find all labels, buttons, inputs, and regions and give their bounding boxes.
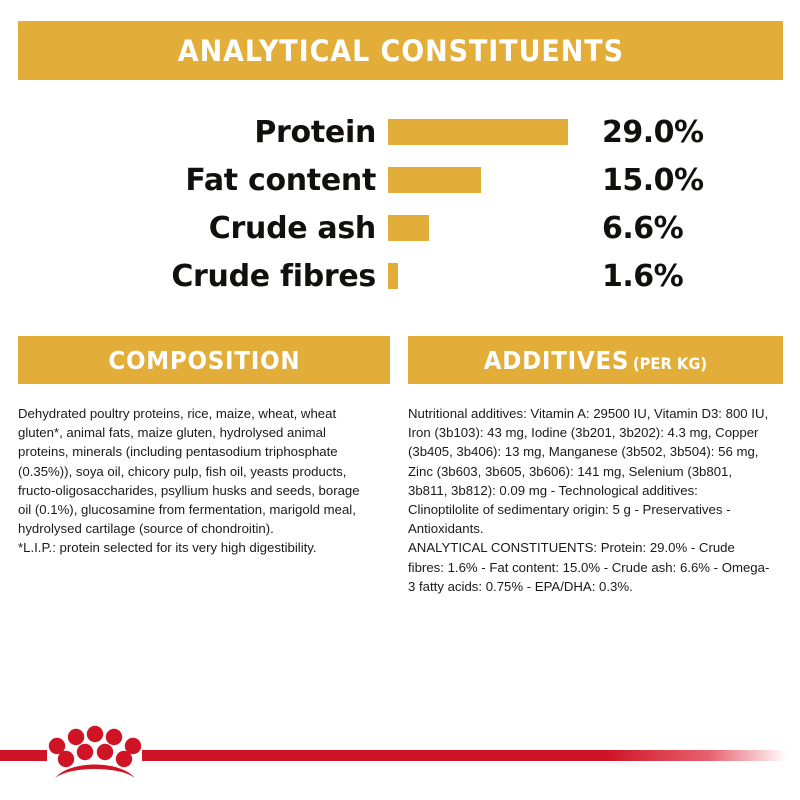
bar-value-protein: 29.0% — [588, 115, 704, 150]
chart-row: Crude fibres 1.6% — [18, 252, 783, 300]
bar-label-protein: Protein — [18, 115, 388, 150]
bar-track-crude-ash — [388, 215, 588, 241]
footer-rule-right — [142, 750, 787, 761]
analytical-constituents-banner: ANALYTICAL CONSTITUENTS — [18, 21, 783, 80]
chart-row: Fat content 15.0% — [18, 156, 783, 204]
bar-fat-content — [388, 167, 481, 193]
bar-label-crude-ash: Crude ash — [18, 211, 388, 246]
product-info-panel: ANALYTICAL CONSTITUENTS Protein 29.0% Fa… — [0, 0, 800, 800]
additives-heading: ADDITIVES(per kg) — [484, 346, 707, 375]
page-title: ANALYTICAL CONSTITUENTS — [177, 34, 623, 68]
analytical-constituents-chart: Protein 29.0% Fat content 15.0% Crude as… — [18, 108, 783, 308]
bar-track-crude-fibres — [388, 263, 588, 289]
bar-track-protein — [388, 119, 588, 145]
chart-row: Crude ash 6.6% — [18, 204, 783, 252]
bar-value-crude-fibres: 1.6% — [588, 259, 683, 294]
composition-text-column: Dehydrated poultry proteins, rice, maize… — [18, 404, 370, 558]
bar-track-fat-content — [388, 167, 588, 193]
composition-heading: COMPOSITION — [108, 346, 300, 375]
bar-crude-fibres — [388, 263, 398, 289]
additives-analytical-constituents: ANALYTICAL CONSTITUENTS: Protein: 29.0% … — [408, 538, 770, 596]
chart-row: Protein 29.0% — [18, 108, 783, 156]
composition-footnote: *L.I.P.: protein selected for its very h… — [18, 538, 370, 557]
bar-value-crude-ash: 6.6% — [588, 211, 683, 246]
additives-heading-main: ADDITIVES — [484, 346, 629, 375]
royal-canin-crown-icon — [48, 715, 142, 780]
bar-crude-ash — [388, 215, 429, 241]
footer-rule-left — [0, 750, 47, 761]
additives-body: Nutritional additives: Vitamin A: 29500 … — [408, 404, 770, 538]
bar-label-crude-fibres: Crude fibres — [18, 259, 388, 294]
composition-body: Dehydrated poultry proteins, rice, maize… — [18, 404, 370, 538]
bar-label-fat-content: Fat content — [18, 163, 388, 198]
additives-text-column: Nutritional additives: Vitamin A: 29500 … — [408, 404, 770, 596]
composition-band: COMPOSITION — [18, 336, 390, 384]
additives-band: ADDITIVES(per kg) — [408, 336, 783, 384]
additives-heading-unit: (per kg) — [633, 354, 707, 373]
brand-footer — [0, 690, 800, 800]
bar-value-fat-content: 15.0% — [588, 163, 704, 198]
bar-protein — [388, 119, 568, 145]
